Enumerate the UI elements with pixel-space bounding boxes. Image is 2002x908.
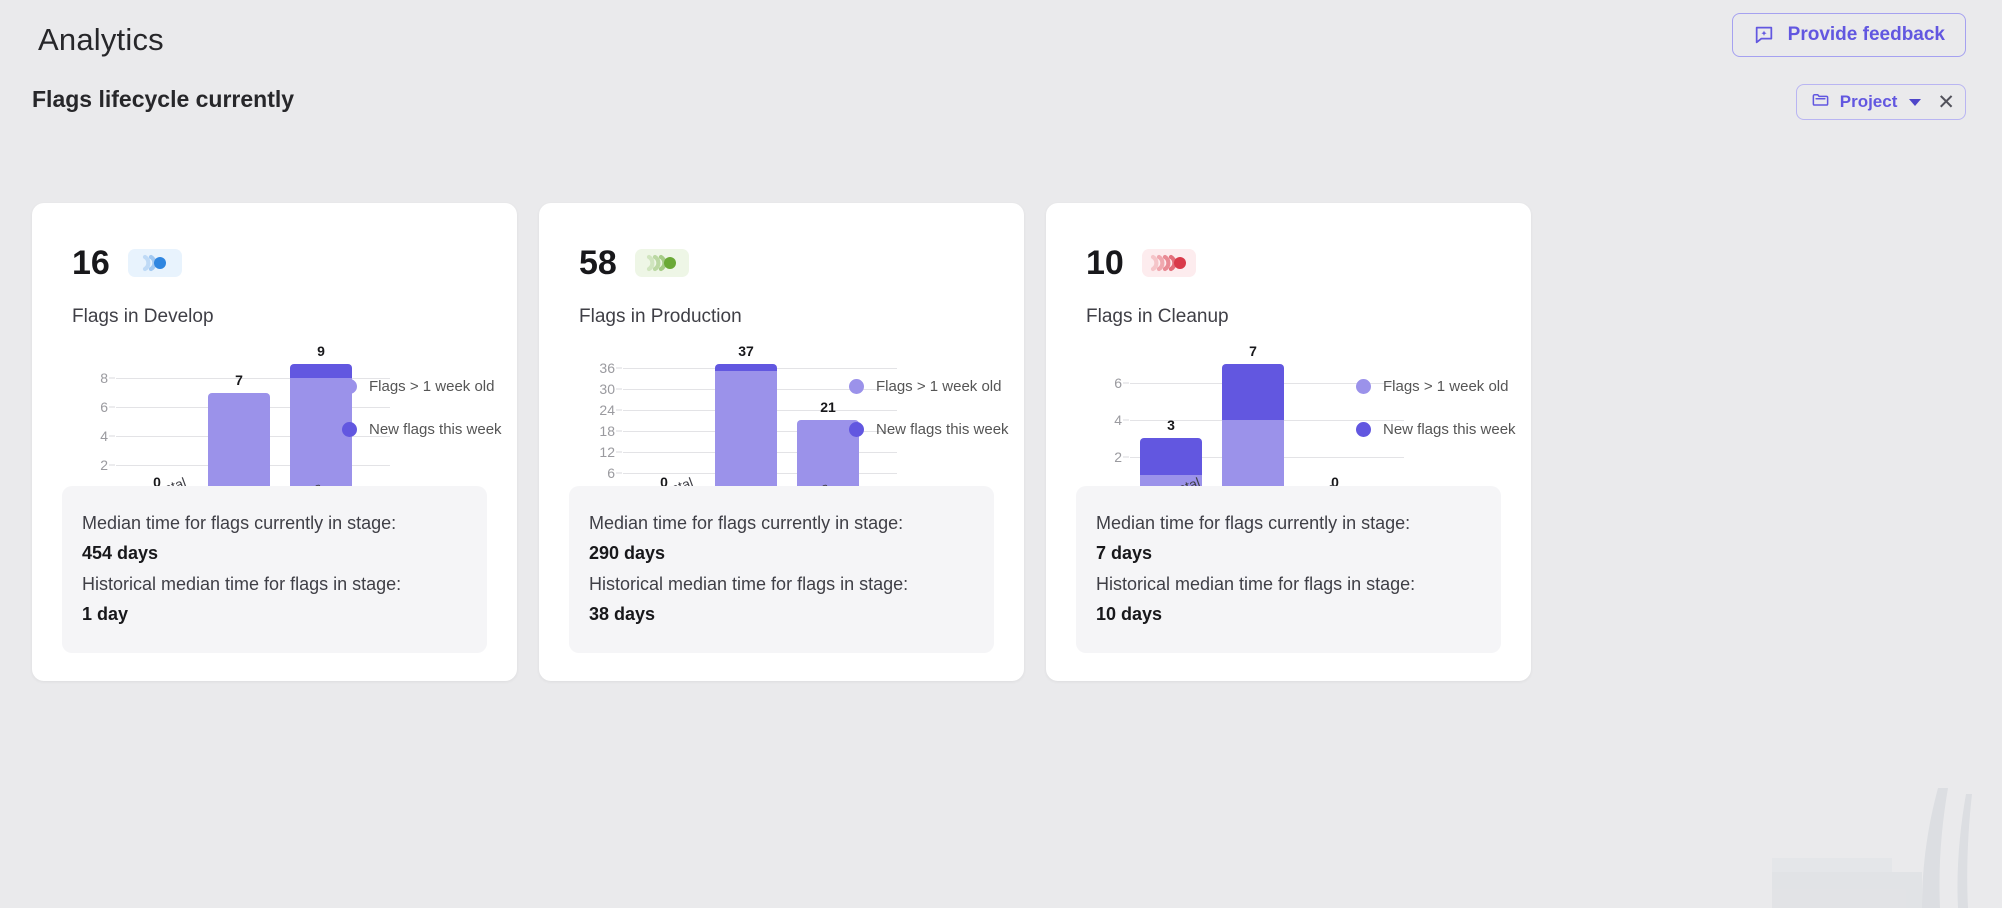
y-tick-mark	[109, 436, 115, 437]
legend-label: Flags > 1 week old	[1383, 378, 1509, 395]
bar-value-label: 37	[738, 343, 754, 359]
provide-feedback-button[interactable]: Provide feedback	[1732, 13, 1966, 57]
median-time-box: Median time for flags currently in stage…	[569, 486, 994, 653]
y-tick-mark	[616, 472, 622, 473]
y-axis-tick-label: 2	[100, 457, 108, 473]
legend-swatch-icon	[1356, 422, 1371, 437]
decorative-corner-image	[1772, 788, 2002, 908]
legend-item-new-flags[interactable]: New flags this week	[342, 421, 502, 438]
y-axis-tick-label: 30	[599, 381, 615, 397]
chart-plot-area: 02468079ExperimentalReleaseOther flags	[116, 364, 362, 494]
bar-release[interactable]: 7	[208, 393, 270, 494]
bar-segment-new-flags	[1140, 438, 1202, 475]
bar-segment-new-flags	[290, 364, 352, 378]
stage-name: Flags in Production	[579, 306, 742, 328]
production-stage-icon	[635, 249, 689, 277]
y-tick-mark	[109, 465, 115, 466]
y-axis-tick-label: 36	[599, 360, 615, 376]
legend-item-new-flags[interactable]: New flags this week	[849, 421, 1009, 438]
median-time-box: Median time for flags currently in stage…	[62, 486, 487, 653]
provide-feedback-label: Provide feedback	[1788, 24, 1945, 46]
project-filter-label: Project	[1840, 92, 1898, 112]
page-title: Analytics	[38, 22, 164, 58]
chart-legend: Flags > 1 week old New flags this week	[1356, 378, 1516, 464]
legend-swatch-icon	[342, 379, 357, 394]
y-axis-tick-label: 6	[607, 465, 615, 481]
chart-legend: Flags > 1 week old New flags this week	[849, 378, 1009, 464]
y-axis-tick-label: 6	[1114, 375, 1122, 391]
flag-count: 10	[1086, 246, 1124, 280]
median-current-label: Median time for flags currently in stage…	[1096, 508, 1481, 538]
y-axis-tick-label: 6	[100, 399, 108, 415]
project-filter-chip[interactable]: Project ✕	[1796, 84, 1966, 120]
median-historical-label: Historical median time for flags in stag…	[589, 569, 974, 599]
bar-release[interactable]: 37	[715, 364, 777, 494]
legend-swatch-icon	[1356, 379, 1371, 394]
legend-item-old-flags[interactable]: Flags > 1 week old	[342, 378, 502, 395]
y-tick-mark	[1123, 419, 1129, 420]
section-title: Flags lifecycle currently	[32, 86, 294, 113]
y-axis-tick-label: 2	[1114, 449, 1122, 465]
legend-item-old-flags[interactable]: Flags > 1 week old	[849, 378, 1009, 395]
cleanup-stage-icon	[1142, 249, 1196, 277]
chart-plot-area: 06121824303603721ExperimentalReleaseOthe…	[623, 364, 869, 494]
bar-segment-new-flags	[1222, 364, 1284, 420]
card-header: 10	[1086, 246, 1196, 280]
y-tick-mark	[616, 367, 622, 368]
bar-segment-old-flags	[1222, 420, 1284, 494]
chart-plot-area: 0246370ExperimentalReleaseOther flags	[1130, 364, 1376, 494]
y-axis-tick-label: 8	[100, 370, 108, 386]
bar-release[interactable]: 7	[1222, 364, 1284, 494]
median-current-value: 290 days	[589, 538, 974, 568]
y-tick-mark	[1123, 456, 1129, 457]
y-axis-tick-label: 4	[100, 428, 108, 444]
y-axis-tick-label: 24	[599, 402, 615, 418]
legend-swatch-icon	[849, 379, 864, 394]
legend-swatch-icon	[849, 422, 864, 437]
feedback-chat-sparkle-icon	[1753, 24, 1775, 46]
bar-segment-new-flags	[715, 364, 777, 371]
stage-card: 58 Flags in Production06121824303603721E…	[539, 203, 1024, 681]
chart-legend: Flags > 1 week old New flags this week	[342, 378, 502, 464]
bar-value-label: 7	[235, 372, 243, 388]
median-historical-label: Historical median time for flags in stag…	[82, 569, 467, 599]
y-tick-mark	[616, 451, 622, 452]
y-tick-mark	[616, 409, 622, 410]
bar-segment-old-flags	[208, 393, 270, 494]
bar-value-label: 9	[317, 343, 325, 359]
develop-stage-icon	[128, 249, 182, 277]
bar-value-label: 3	[1167, 417, 1175, 433]
median-time-box: Median time for flags currently in stage…	[1076, 486, 1501, 653]
y-axis-tick-label: 4	[1114, 412, 1122, 428]
stage-card: 16 Flags in Develop02468079ExperimentalR…	[32, 203, 517, 681]
median-historical-label: Historical median time for flags in stag…	[1096, 569, 1481, 599]
stage-name: Flags in Cleanup	[1086, 306, 1229, 328]
bar-value-label: 21	[820, 399, 836, 415]
median-historical-value: 10 days	[1096, 599, 1481, 629]
y-axis-tick-label: 12	[599, 444, 615, 460]
folder-icon	[1811, 90, 1830, 114]
legend-label: Flags > 1 week old	[876, 378, 1002, 395]
y-tick-mark	[616, 388, 622, 389]
legend-label: New flags this week	[369, 421, 502, 438]
legend-label: New flags this week	[1383, 421, 1516, 438]
y-tick-mark	[616, 430, 622, 431]
legend-item-new-flags[interactable]: New flags this week	[1356, 421, 1516, 438]
legend-item-old-flags[interactable]: Flags > 1 week old	[1356, 378, 1516, 395]
stage-name: Flags in Develop	[72, 306, 214, 328]
card-header: 16	[72, 246, 182, 280]
chevron-down-icon[interactable]	[1909, 99, 1921, 106]
card-header: 58	[579, 246, 689, 280]
bar-segment-old-flags	[715, 371, 777, 494]
legend-swatch-icon	[342, 422, 357, 437]
flag-count: 16	[72, 246, 110, 280]
stage-card: 10 Flags in Cleanup0246370ExperimentalRe…	[1046, 203, 1531, 681]
median-historical-value: 38 days	[589, 599, 974, 629]
y-axis-tick-label: 18	[599, 423, 615, 439]
median-current-value: 454 days	[82, 538, 467, 568]
median-historical-value: 1 day	[82, 599, 467, 629]
close-icon[interactable]: ✕	[1937, 92, 1955, 113]
cards-container: 16 Flags in Develop02468079ExperimentalR…	[32, 203, 1531, 681]
median-current-value: 7 days	[1096, 538, 1481, 568]
y-tick-mark	[1123, 382, 1129, 383]
flag-count: 58	[579, 246, 617, 280]
legend-label: Flags > 1 week old	[369, 378, 495, 395]
median-current-label: Median time for flags currently in stage…	[589, 508, 974, 538]
legend-label: New flags this week	[876, 421, 1009, 438]
y-tick-mark	[109, 378, 115, 379]
bar-value-label: 7	[1249, 343, 1257, 359]
median-current-label: Median time for flags currently in stage…	[82, 508, 467, 538]
y-tick-mark	[109, 407, 115, 408]
